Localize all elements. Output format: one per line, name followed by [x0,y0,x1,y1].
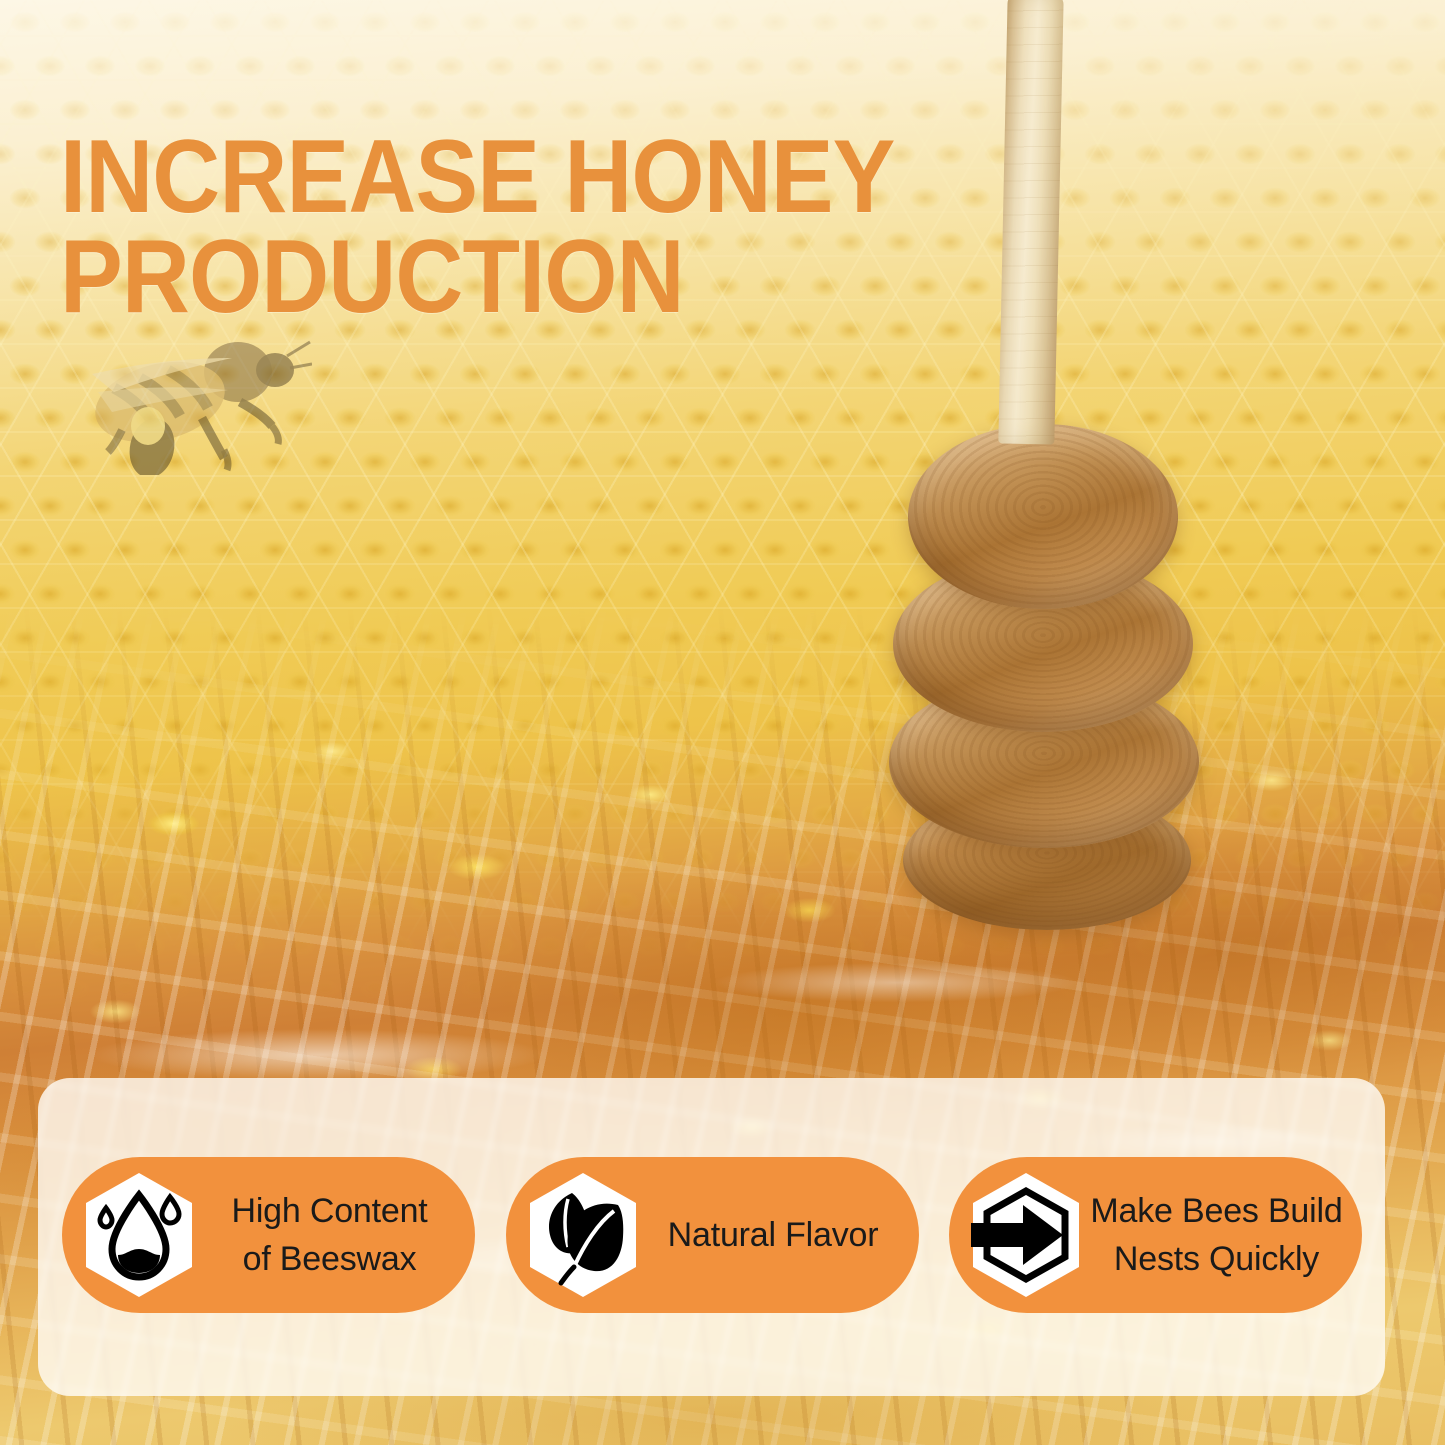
feature-badge-list: High Content of Beeswax Natural Flavor [62,1157,1362,1313]
arrow-hexagon-icon [967,1169,1085,1301]
feature-badge-label: Make Bees Build Nests Quickly [1085,1187,1362,1284]
feature-label-line-2: of Beeswax [198,1235,461,1283]
headline-line-2: PRODUCTION [60,228,947,328]
feature-label-line-1: Make Bees Build [1085,1187,1348,1235]
feature-badge-high-content-of-beeswax[interactable]: High Content of Beeswax [62,1157,475,1313]
bee-icon [62,330,312,475]
feature-badge-make-bees-build-nests-quickly[interactable]: Make Bees Build Nests Quickly [949,1157,1362,1313]
feature-badge-label: Natural Flavor [642,1211,919,1259]
beeswax-droplet-icon [80,1169,198,1301]
headline-line-1: INCREASE HONEY [60,119,895,235]
honey-dipper-handle [998,0,1063,445]
page-title: INCREASE HONEY PRODUCTION [60,128,947,328]
feature-label-line-1: Natural Flavor [642,1211,905,1259]
feature-badge-label: High Content of Beeswax [198,1187,475,1284]
honey-dipper-ring-top [908,424,1178,609]
leaf-icon [524,1169,642,1301]
feature-label-line-2: Nests Quickly [1085,1235,1348,1283]
feature-label-line-1: High Content [198,1187,461,1235]
feature-badge-natural-flavor[interactable]: Natural Flavor [506,1157,919,1313]
product-feature-poster: INCREASE HONEY PRODUCTION High Content o… [0,0,1445,1445]
